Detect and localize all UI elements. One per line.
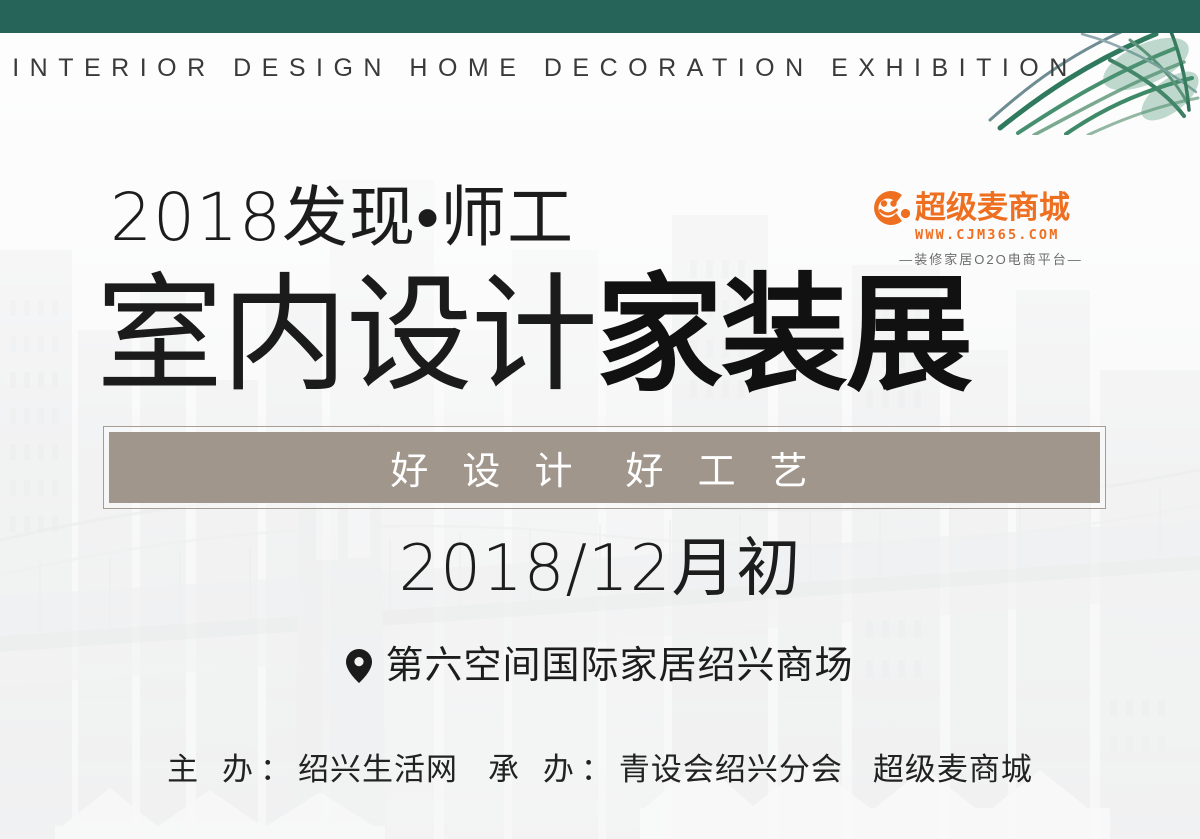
smiley-c-logo-icon <box>866 186 910 230</box>
main-title-bold-part: 家装展 <box>596 261 971 409</box>
poster-main-title: 室内设计家装展 <box>96 272 971 399</box>
event-date: 2018/12月初 <box>0 537 1200 601</box>
main-title-light-part: 室内设计 <box>96 261 596 409</box>
english-kicker: INTERIOR DESIGN HOME DECORATION EXHIBITI… <box>0 54 1090 83</box>
event-venue-text: 第六空间国际家居绍兴商场 <box>385 646 853 684</box>
event-venue-row: 第六空间国际家居绍兴商场 <box>0 646 1200 684</box>
organizer-label: 承 办： <box>488 752 619 788</box>
tagline-left: 好 设 计 <box>390 440 583 495</box>
organizer-value: 青设会绍兴分会 <box>619 752 843 788</box>
logo-website-url: WWW.CJM365.COM <box>915 227 1116 243</box>
host-label: 主 办： <box>167 752 298 788</box>
host-value: 绍兴生活网 <box>298 752 458 788</box>
footer-organisers: 主 办：绍兴生活网承 办：青设会绍兴分会超级麦商城 <box>0 755 1200 786</box>
logo-brand-name: 超级麦商城 <box>915 186 1070 230</box>
top-green-band <box>0 0 1200 33</box>
poster-subtitle: 2018发现•师工 <box>110 185 574 251</box>
map-pin-icon <box>346 649 372 683</box>
tagline-right: 好 工 艺 <box>626 440 819 495</box>
tagline-bar: 好 设 计 好 工 艺 <box>103 426 1106 509</box>
poster-canvas: INTERIOR DESIGN HOME DECORATION EXHIBITI… <box>0 0 1200 839</box>
partner-value: 超级麦商城 <box>873 752 1033 788</box>
brand-logo[interactable]: 超级麦商城 WWW.CJM365.COM —装修家居O2O电商平台— <box>866 186 1116 268</box>
